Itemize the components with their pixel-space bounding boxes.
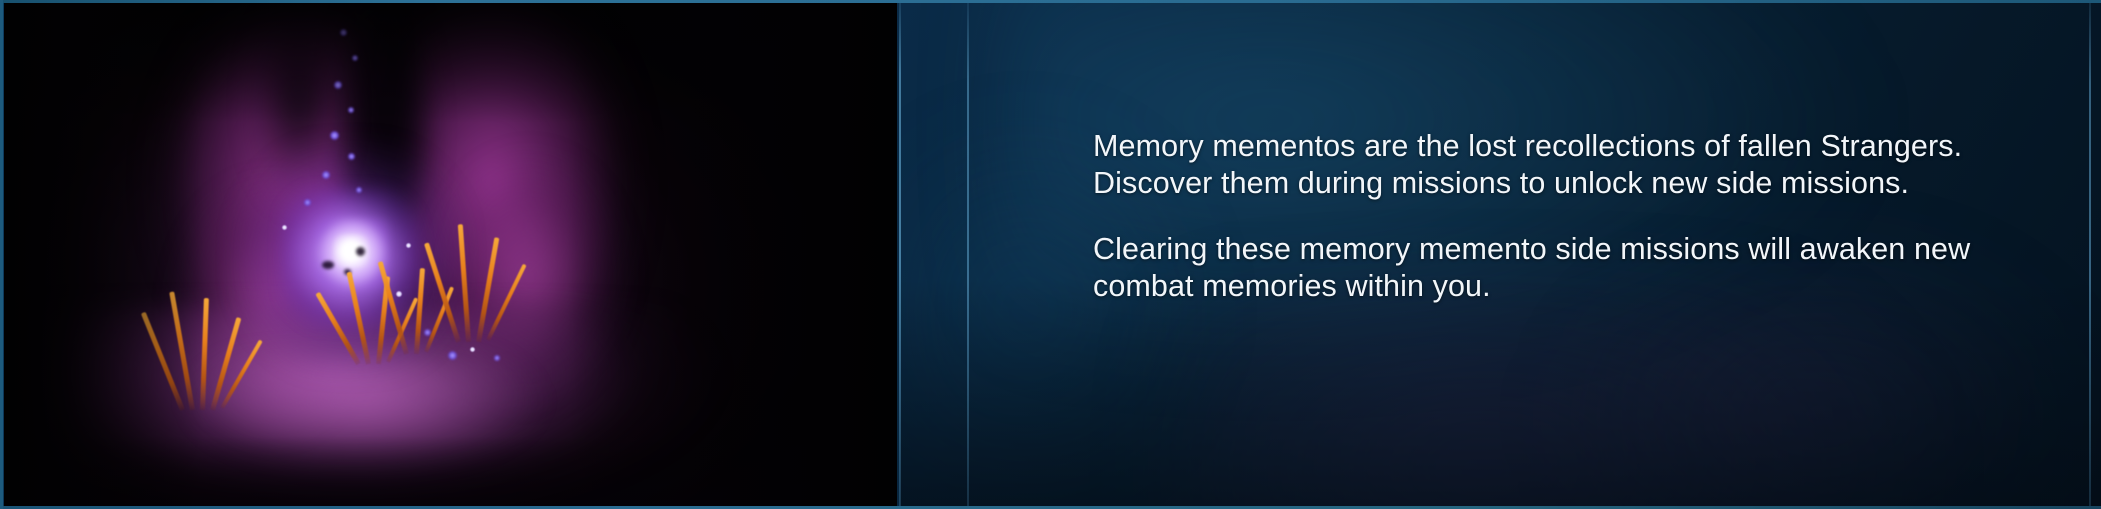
- description-paragraph-2: Clearing these memory memento side missi…: [1093, 231, 2053, 305]
- memento-particle: [470, 347, 475, 352]
- memento-particle: [406, 243, 411, 248]
- memento-particle: [330, 131, 339, 140]
- memento-preview-image: [4, 3, 897, 506]
- panel-divider-right: [2089, 3, 2091, 506]
- panel-divider-middle: [967, 3, 969, 506]
- memento-particle: [448, 351, 457, 360]
- memento-particle: [494, 355, 500, 361]
- memento-particle: [356, 187, 362, 193]
- memento-particle: [304, 199, 311, 206]
- preview-image-canvas: [4, 3, 897, 506]
- panel-divider-left: [899, 3, 901, 506]
- memento-particle: [348, 153, 355, 160]
- preview-right-vignette: [567, 3, 897, 506]
- memento-particle: [396, 291, 402, 297]
- background-bottom-vignette: [900, 279, 2101, 509]
- memento-orb-speck-1: [356, 247, 365, 256]
- window-frame-top: [0, 0, 2101, 3]
- memento-particle: [322, 171, 330, 179]
- memento-particle: [282, 225, 287, 230]
- window-frame-left: [0, 0, 3, 509]
- description-paragraph-1: Memory mementos are the lost recollectio…: [1093, 128, 2053, 202]
- memento-description: Memory mementos are the lost recollectio…: [1093, 128, 2053, 305]
- preview-left-vignette: [4, 3, 204, 506]
- memento-orb-speck-2: [322, 261, 334, 269]
- memory-memento-info-screen: Memory mementos are the lost recollectio…: [0, 0, 2101, 509]
